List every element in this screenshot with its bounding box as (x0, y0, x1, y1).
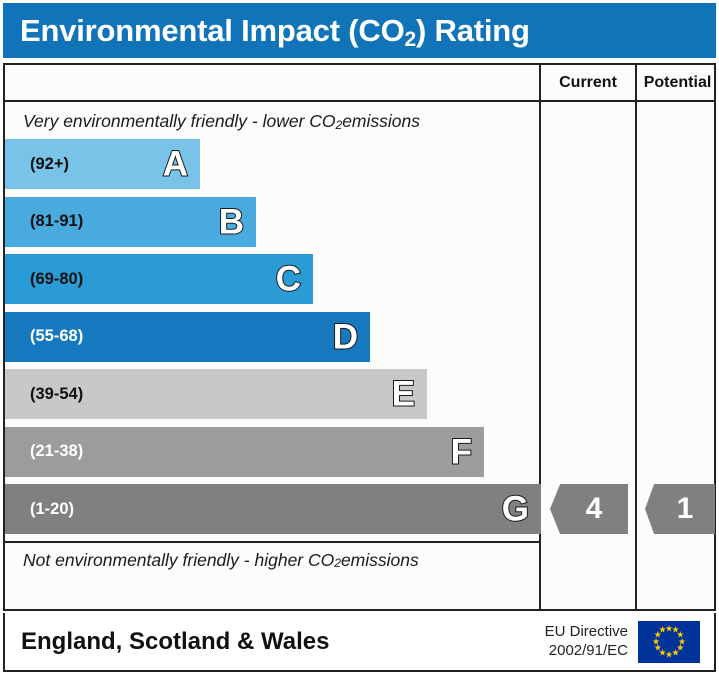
band-range-label: (92+) (5, 155, 69, 174)
band-range-label: (55-68) (5, 327, 83, 346)
band-letter-b: B (219, 204, 244, 239)
potential-rating-value: 1 (677, 492, 694, 526)
rating-band-g: (1-20)G (5, 484, 541, 534)
band-letter-a: A (163, 147, 188, 182)
potential-rating-arrow: 1 (645, 484, 715, 534)
caption-top-suffix: emissions (342, 111, 420, 132)
rating-band-f: (21-38)F (5, 427, 484, 477)
rating-band-b: (81-91)B (5, 197, 256, 247)
directive-line-2: 2002/91/EC (545, 642, 628, 661)
caption-bottom-suffix: emissions (341, 550, 419, 571)
current-rating-arrow: 4 (550, 484, 628, 534)
band-letter-f: F (451, 434, 472, 469)
title-bar: Environmental Impact (CO2) Rating (3, 3, 716, 58)
title-main: Environmental Impact (CO (20, 13, 405, 48)
title-tail: ) Rating (416, 13, 530, 48)
rating-band-d: (55-68)D (5, 312, 370, 362)
band-letter-d: D (333, 319, 358, 354)
rating-band-a: (92+)A (5, 139, 200, 189)
caption-top: Very environmentally friendly - lower CO… (5, 104, 539, 139)
title-subscript: 2 (405, 28, 416, 51)
band-range-label: (21-38) (5, 442, 83, 461)
band-range-label: (81-91) (5, 212, 83, 231)
band-range-label: (1-20) (5, 500, 74, 519)
band-letter-c: C (276, 262, 301, 297)
band-letter-g: G (502, 492, 529, 527)
current-rating-value: 4 (586, 492, 603, 526)
eu-flag-icon: ★★★★★★★★★★★★ (638, 621, 700, 663)
caption-bottom: Not environmentally friendly - higher CO… (5, 541, 539, 577)
caption-bottom-text: Not environmentally friendly - higher CO (23, 550, 334, 571)
page-title: Environmental Impact (CO2) Rating (3, 13, 530, 49)
band-range-label: (39-54) (5, 385, 83, 404)
rating-band-e: (39-54)E (5, 369, 427, 419)
caption-top-text: Very environmentally friendly - lower CO (23, 111, 336, 132)
footer-bar: England, Scotland & Wales EU Directive 2… (3, 613, 716, 672)
band-range-label: (69-80) (5, 270, 83, 289)
column-separator-potential (635, 65, 637, 609)
directive-line-1: EU Directive (545, 623, 628, 642)
rating-band-c: (69-80)C (5, 254, 313, 304)
caption-top-subscript: 2 (336, 118, 343, 132)
eu-star-icon: ★ (658, 626, 667, 635)
band-letter-e: E (392, 377, 415, 412)
footer-directive: EU Directive 2002/91/EC (545, 623, 638, 661)
footer-region-label: England, Scotland & Wales (5, 628, 545, 656)
column-header-current: Current (541, 65, 635, 100)
rating-bands: (92+)A(81-91)B(69-80)C(55-68)D(39-54)E(2… (5, 139, 539, 541)
epc-environmental-impact-certificate: Environmental Impact (CO2) Rating Curren… (0, 0, 719, 675)
rating-grid: Current Potential Very environmentally f… (3, 63, 716, 611)
caption-bottom-subscript: 2 (334, 556, 341, 570)
table-header-row: Current Potential (5, 65, 714, 102)
column-header-potential: Potential (637, 65, 718, 100)
